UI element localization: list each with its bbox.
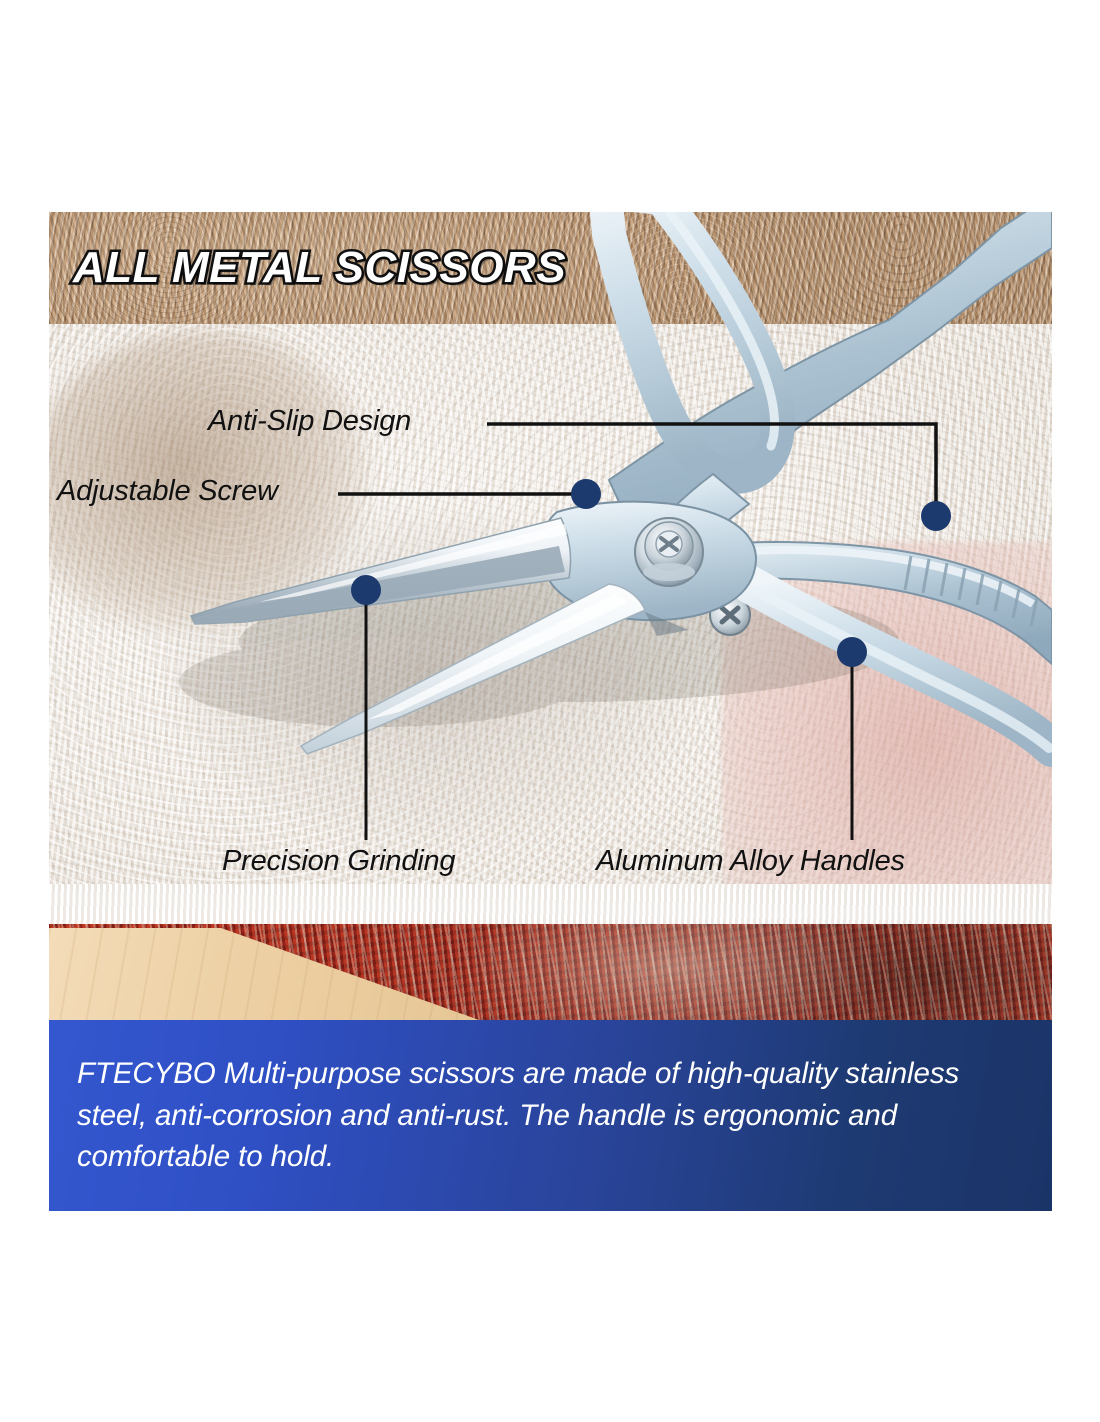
callout-label-precision-grinding: Precision Grinding — [222, 845, 455, 878]
product-infographic: ALL METAL SCISSORS Anti-Slip Design Adju… — [0, 0, 1100, 1422]
description-text: FTECYBO Multi-purpose scissors are made … — [49, 1053, 1052, 1179]
callout-label-adjustable-screw: Adjustable Screw — [57, 475, 278, 508]
product-photo — [49, 212, 1052, 1020]
pink-rug-background — [722, 542, 1052, 942]
callout-label-anti-slip-design: Anti-Slip Design — [208, 405, 411, 438]
page-title: ALL METAL SCISSORS — [73, 243, 566, 293]
callout-label-aluminum-alloy-handles: Aluminum Alloy Handles — [596, 845, 905, 878]
description-banner: FTECYBO Multi-purpose scissors are made … — [49, 1020, 1052, 1211]
